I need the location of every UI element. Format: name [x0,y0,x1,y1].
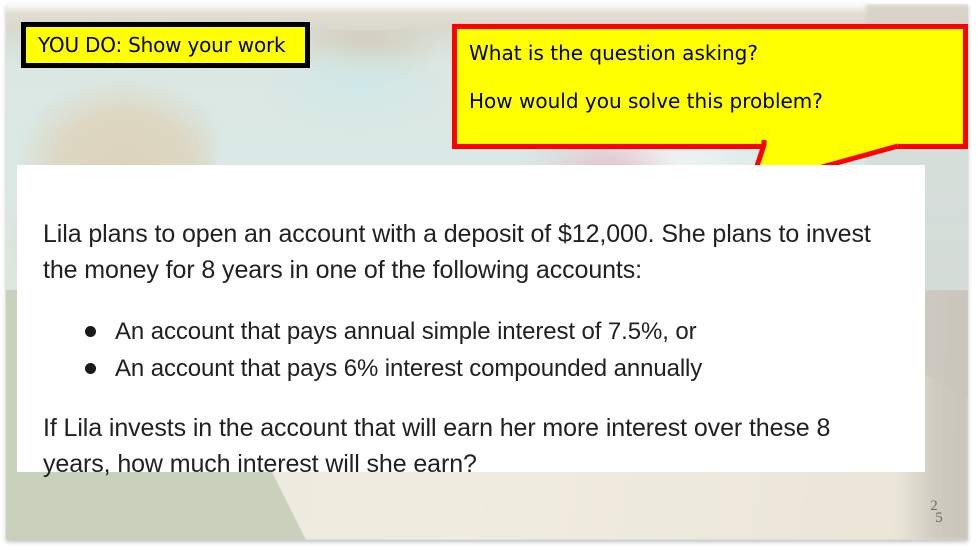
callout-question-1: What is the question asking? [469,43,953,63]
slide: YOU DO: Show your work What is the quest… [0,0,978,550]
bullet-icon [85,326,96,337]
slide-canvas: YOU DO: Show your work What is the quest… [6,4,968,540]
problem-options-list: An account that pays annual simple inter… [43,313,899,387]
problem-closing: If Lila invests in the account that will… [43,410,899,482]
problem-option-label: An account that pays 6% interest compoun… [115,355,702,382]
title-banner: YOU DO: Show your work [21,22,310,68]
callout-question-2: How would you solve this problem? [469,91,953,111]
problem-card: Lila plans to open an account with a dep… [17,165,925,472]
slide-number: 2 5 [922,499,952,526]
problem-intro: Lila plans to open an account with a dep… [43,216,899,288]
bullet-icon [85,363,96,374]
question-callout: What is the question asking? How would y… [452,24,968,149]
list-item: An account that pays 6% interest compoun… [43,350,899,387]
title-banner-label: YOU DO: Show your work [38,33,285,57]
problem-option-label: An account that pays annual simple inter… [115,318,697,345]
list-item: An account that pays annual simple inter… [43,313,899,350]
